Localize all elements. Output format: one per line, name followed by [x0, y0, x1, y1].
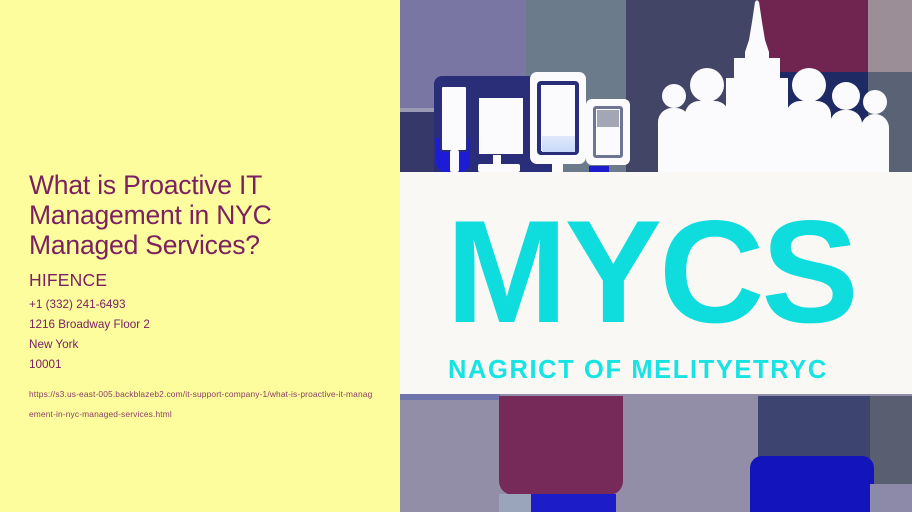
- text-stack: What is Proactive IT Management in NYC M…: [29, 170, 381, 424]
- bottom-block-lilac: [870, 484, 912, 512]
- page-title: What is Proactive IT Management in NYC M…: [29, 170, 349, 260]
- phone-number[interactable]: +1 (332) 241-6493: [29, 295, 381, 315]
- logo-subtitle: NAGRICT OF MELITYETRYC: [448, 356, 828, 384]
- slide-canvas: What is Proactive IT Management in NYC M…: [0, 0, 912, 512]
- source-url-block: https://s3.us-east-005.backblazeb2.com/i…: [29, 384, 374, 424]
- address-city: New York: [29, 335, 381, 355]
- person-body-medium: [830, 110, 862, 172]
- company-name: HIFENCE: [29, 270, 381, 291]
- bottom-block-maroon: [499, 396, 623, 495]
- person-head-large: [690, 68, 724, 102]
- address-street: 1216 Broadway Floor 2: [29, 315, 381, 335]
- left-content-panel: What is Proactive IT Management in NYC M…: [0, 0, 400, 512]
- illustration-bottom-band: [400, 394, 912, 512]
- address-zip: 10001: [29, 355, 381, 375]
- bottom-stripe-accent: [400, 394, 500, 400]
- illustration-top-band: [400, 0, 912, 172]
- person-head-medium: [832, 82, 860, 110]
- source-url[interactable]: https://s3.us-east-005.backblazeb2.com/i…: [29, 384, 374, 424]
- bottom-block-blue-large: [750, 456, 874, 512]
- bottom-block-maroon-foot: [499, 494, 531, 512]
- bottom-block-gray: [870, 396, 912, 484]
- person-body-large: [685, 101, 729, 172]
- illustration-panel: MYCS NAGRICT OF MELITYETRYC: [400, 0, 912, 512]
- logo-band: MYCS NAGRICT OF MELITYETRYC: [400, 172, 912, 394]
- logo-wordmark: MYCS: [446, 182, 856, 362]
- people-group-icon: [662, 84, 686, 108]
- person-head-small-right: [863, 90, 887, 114]
- bottom-block-blue-small: [531, 494, 616, 512]
- person-body-large-right: [786, 101, 831, 172]
- person-body-small-right: [861, 114, 889, 172]
- people-group-icon: [792, 68, 826, 102]
